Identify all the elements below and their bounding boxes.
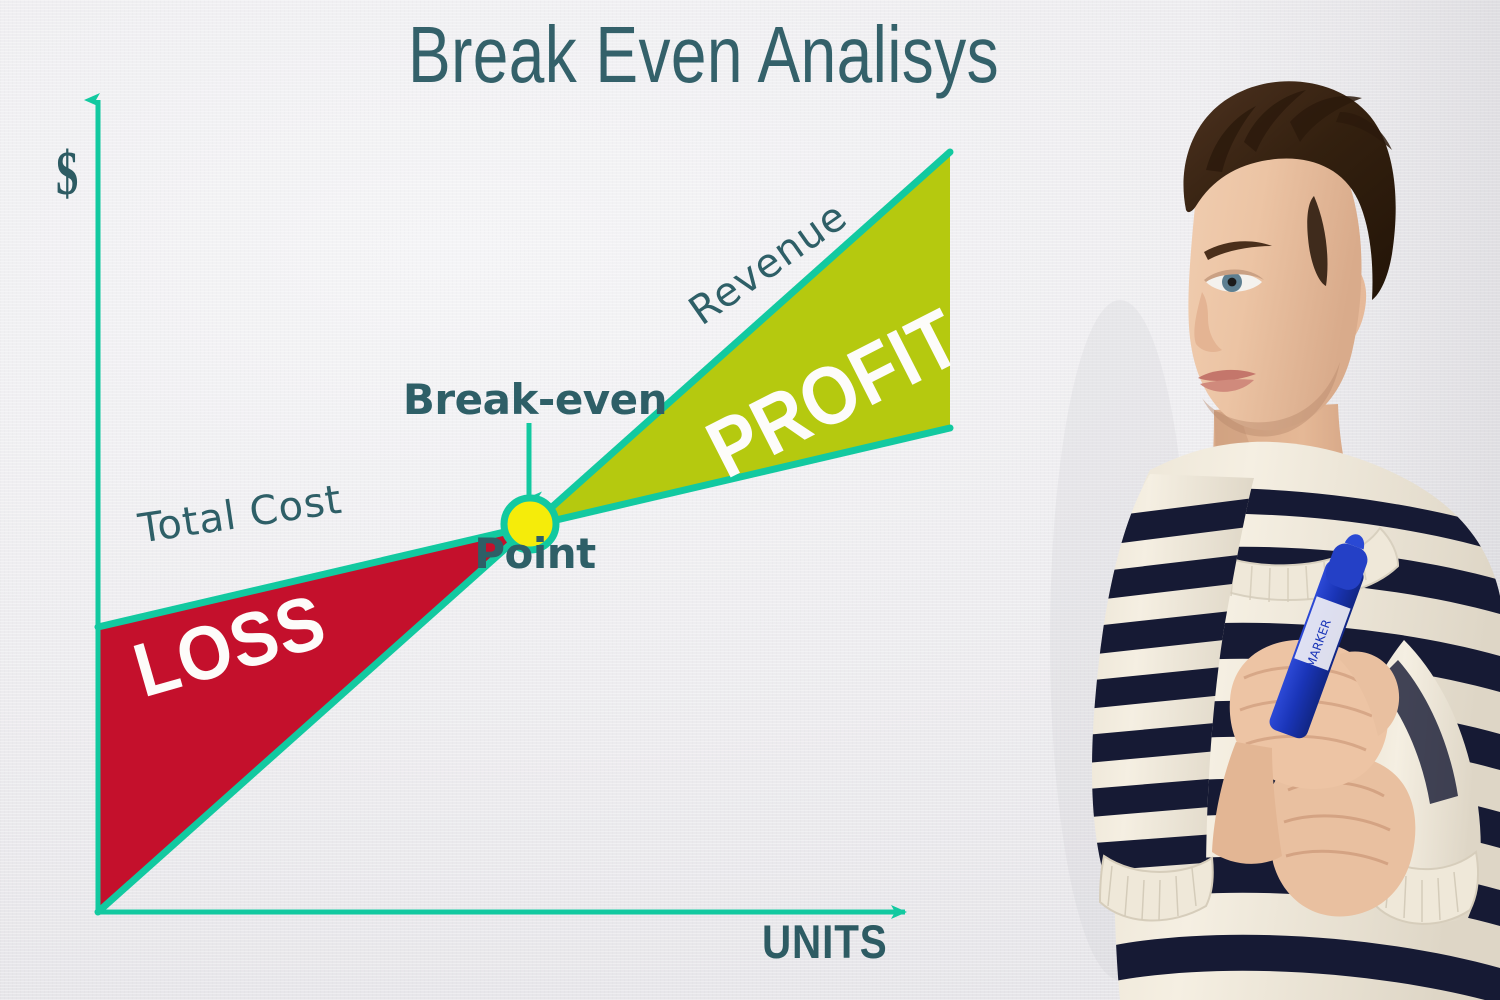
page-title: Break Even Analisys: [408, 14, 999, 96]
x-axis-label: UNITS: [762, 918, 888, 966]
pupil: [1228, 278, 1237, 287]
break-even-line-1: Break-even: [390, 374, 680, 425]
break-even-point-label: Break-even Point: [390, 272, 680, 682]
presenter-illustration: MARKER: [1000, 0, 1500, 1000]
break-even-line-2: Point: [390, 528, 680, 579]
y-axis-label: $: [56, 143, 78, 206]
presenter-photo: MARKER: [1000, 0, 1500, 1000]
break-even-analysis-whiteboard-scene: Break Even Analisys $ UNITS Break-even P…: [0, 0, 1500, 1000]
